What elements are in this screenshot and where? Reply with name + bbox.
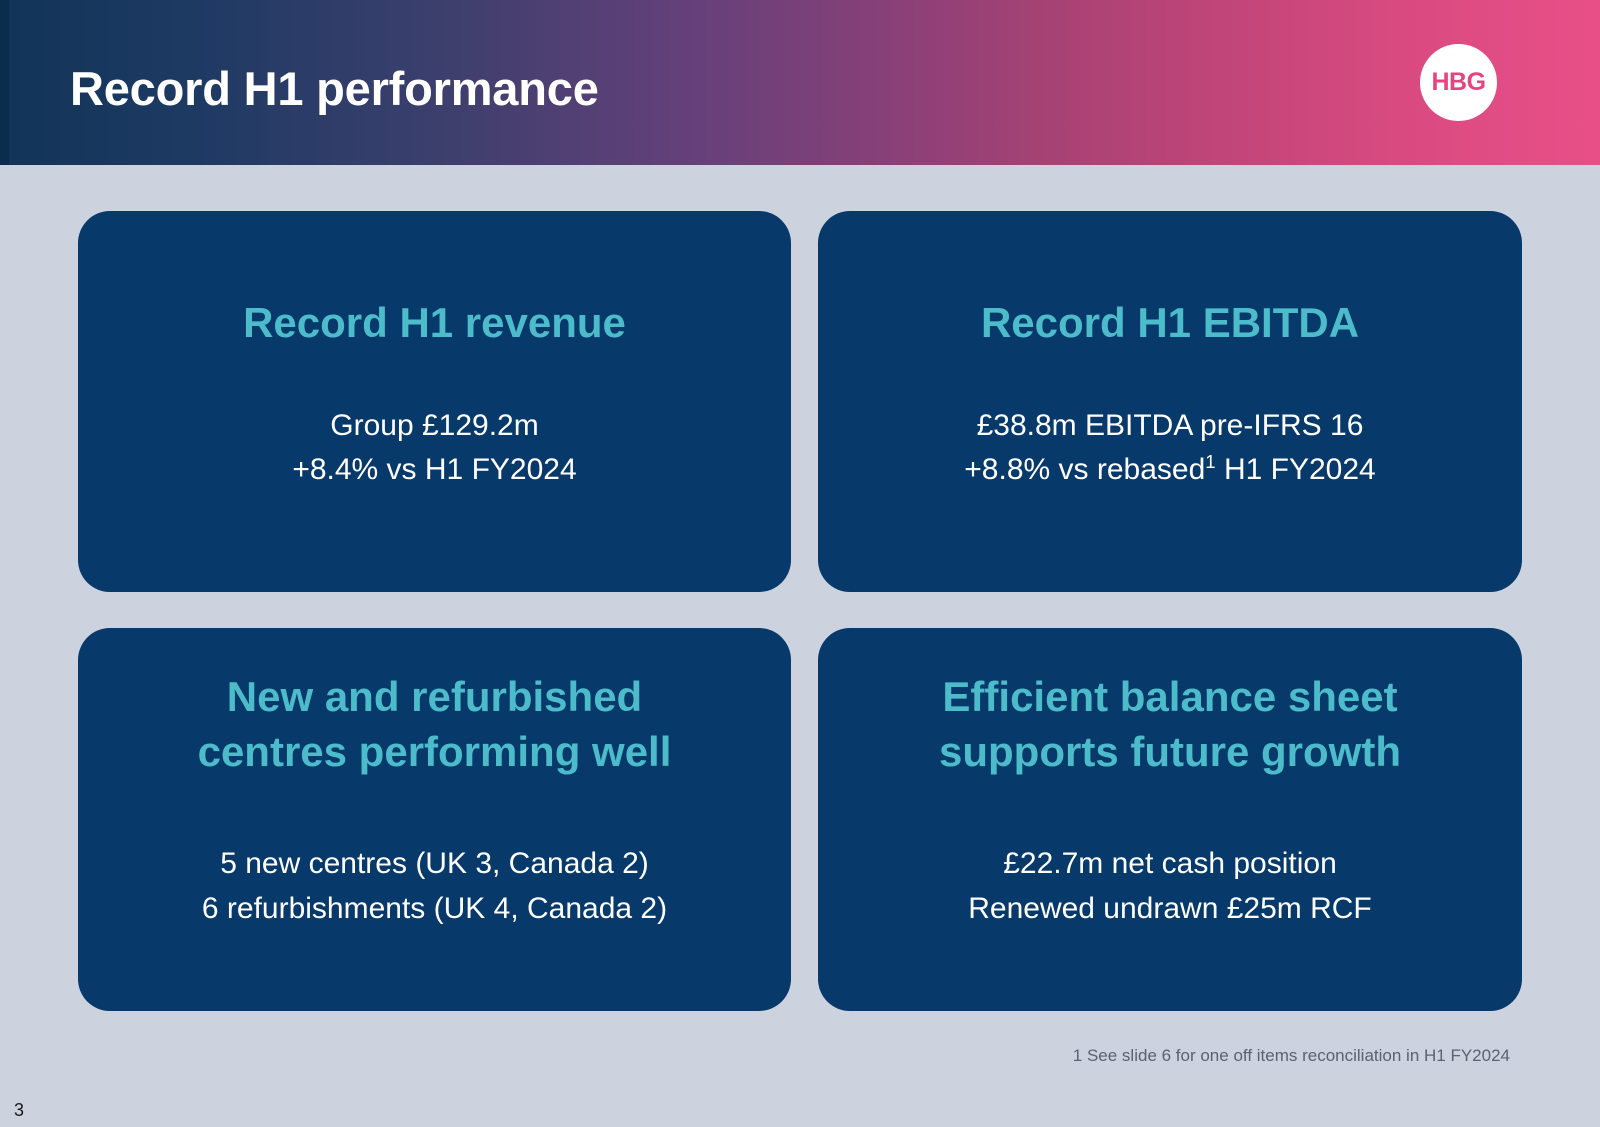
card-heading: Efficient balance sheet supports future …	[818, 670, 1522, 779]
card-heading: Record H1 EBITDA	[818, 296, 1522, 351]
card-body: 5 new centres (UK 3, Canada 2) 6 refurbi…	[78, 842, 791, 931]
card-body-line: 5 new centres (UK 3, Canada 2)	[78, 842, 791, 886]
slide-header: Record H1 performance HBG	[0, 0, 1600, 165]
card-heading-line: Efficient balance sheet	[818, 670, 1522, 725]
card-heading-line: centres performing well	[78, 725, 791, 780]
card-body-line: £38.8m EBITDA pre-IFRS 16	[818, 404, 1522, 448]
card-body-line-text: +8.8% vs rebased	[964, 453, 1205, 486]
page-title: Record H1 performance	[70, 61, 599, 116]
footnote-reference: 1	[1205, 451, 1215, 472]
card-heading-line: New and refurbished	[78, 670, 791, 725]
card-heading: Record H1 revenue	[78, 296, 791, 351]
card-heading-line: supports future growth	[818, 725, 1522, 780]
card-body-line-with-footnote-ref: +8.8% vs rebased1 H1 FY2024	[818, 448, 1522, 492]
hbg-logo-text: HBG	[1431, 70, 1485, 95]
hbg-logo: HBG	[1420, 44, 1497, 121]
card-body: £38.8m EBITDA pre-IFRS 16 +8.8% vs rebas…	[818, 404, 1522, 493]
card-body: Group £129.2m +8.4% vs H1 FY2024	[78, 404, 791, 493]
card-body-line: Group £129.2m	[78, 404, 791, 448]
card-efficient-balance-sheet: Efficient balance sheet supports future …	[818, 628, 1522, 1011]
header-left-accent-bar	[0, 0, 9, 165]
page-number: 3	[14, 1100, 24, 1121]
footnote-text: 1 See slide 6 for one off items reconcil…	[1073, 1046, 1510, 1066]
card-body: £22.7m net cash position Renewed undrawn…	[818, 842, 1522, 931]
card-body-line: £22.7m net cash position	[818, 842, 1522, 886]
card-new-and-refurbished-centres: New and refurbished centres performing w…	[78, 628, 791, 1011]
card-body-line: Renewed undrawn £25m RCF	[818, 887, 1522, 931]
slide: Record H1 performance HBG Record H1 reve…	[0, 0, 1600, 1127]
card-body-line: 6 refurbishments (UK 4, Canada 2)	[78, 887, 791, 931]
card-record-h1-ebitda: Record H1 EBITDA £38.8m EBITDA pre-IFRS …	[818, 211, 1522, 592]
card-body-line-text-tail: H1 FY2024	[1216, 453, 1376, 486]
card-body-line: +8.4% vs H1 FY2024	[78, 448, 791, 492]
card-record-h1-revenue: Record H1 revenue Group £129.2m +8.4% vs…	[78, 211, 791, 592]
card-heading: New and refurbished centres performing w…	[78, 670, 791, 779]
